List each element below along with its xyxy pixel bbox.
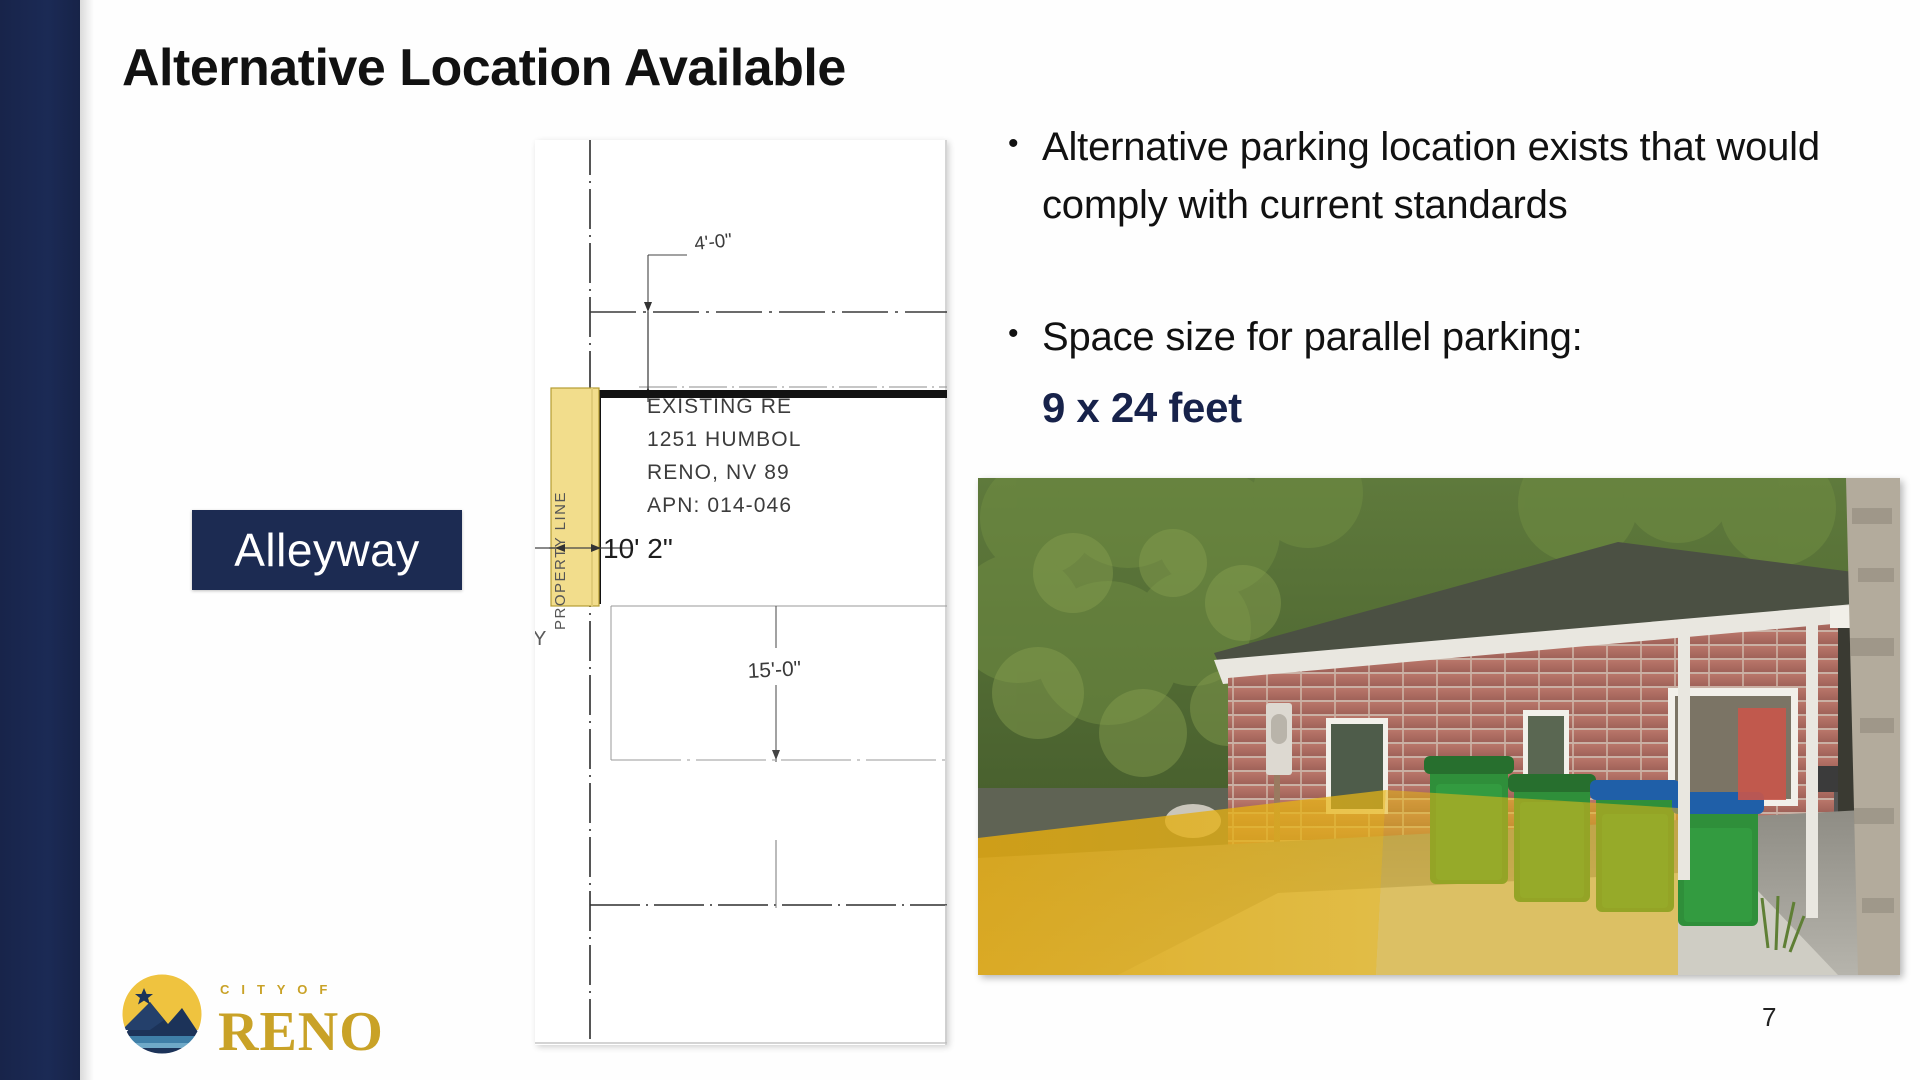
dimension-10ft2in-label: 10' 2" xyxy=(603,533,673,564)
alleyway-callout: Alleyway xyxy=(192,510,462,590)
property-line-label: PROPERTY LINE xyxy=(552,491,569,630)
dimension-4ft-label: 4'-0" xyxy=(693,230,733,255)
logo-reno-label: RENO xyxy=(218,1001,384,1060)
address-line-2: 1251 HUMBOL xyxy=(647,428,802,451)
city-of-reno-logo: C I T Y O F RENO xyxy=(120,968,388,1060)
alleyway-callout-label: Alleyway xyxy=(234,523,420,577)
bullet-marker-icon: • xyxy=(1008,308,1042,360)
list-item: • Space size for parallel parking: xyxy=(1008,308,1908,366)
site-plan-drawing: 4'-0" PROPERTY LINE 10' 2" Y xyxy=(535,140,947,1045)
logo-city-of-label: C I T Y O F xyxy=(220,982,331,997)
bullet-spacer xyxy=(1008,252,1908,308)
alleyway-photo-svg xyxy=(978,478,1900,975)
alleyway-photo xyxy=(978,478,1900,975)
list-item: • Alternative parking location exists th… xyxy=(1008,118,1908,234)
left-accent-bar-shadow xyxy=(80,0,94,1080)
page-title: Alternative Location Available xyxy=(122,38,846,98)
site-plan-svg: 4'-0" PROPERTY LINE 10' 2" Y xyxy=(535,140,947,1045)
address-line-4: APN: 014-046 xyxy=(647,494,792,517)
reno-logo-mark xyxy=(122,974,202,1060)
parking-size-emphasis: 9 x 24 feet xyxy=(1042,384,1908,432)
slide-canvas: Alternative Location Available • Alterna… xyxy=(0,0,1920,1080)
reno-logo-svg: C I T Y O F RENO xyxy=(120,968,388,1060)
page-number: 7 xyxy=(1762,1002,1776,1033)
address-line-1: EXISTING RE xyxy=(647,395,792,418)
bullet-list: • Alternative parking location exists th… xyxy=(1008,118,1908,432)
bullet-text: Alternative parking location exists that… xyxy=(1042,118,1908,234)
left-accent-bar xyxy=(0,0,80,1080)
bullet-text: Space size for parallel parking: xyxy=(1042,308,1583,366)
address-line-3: RENO, NV 89 xyxy=(647,461,790,484)
bullet-marker-icon: • xyxy=(1008,118,1042,170)
stray-glyph-label: Y xyxy=(535,628,546,650)
dimension-15ft-label: 15'-0" xyxy=(747,657,802,683)
